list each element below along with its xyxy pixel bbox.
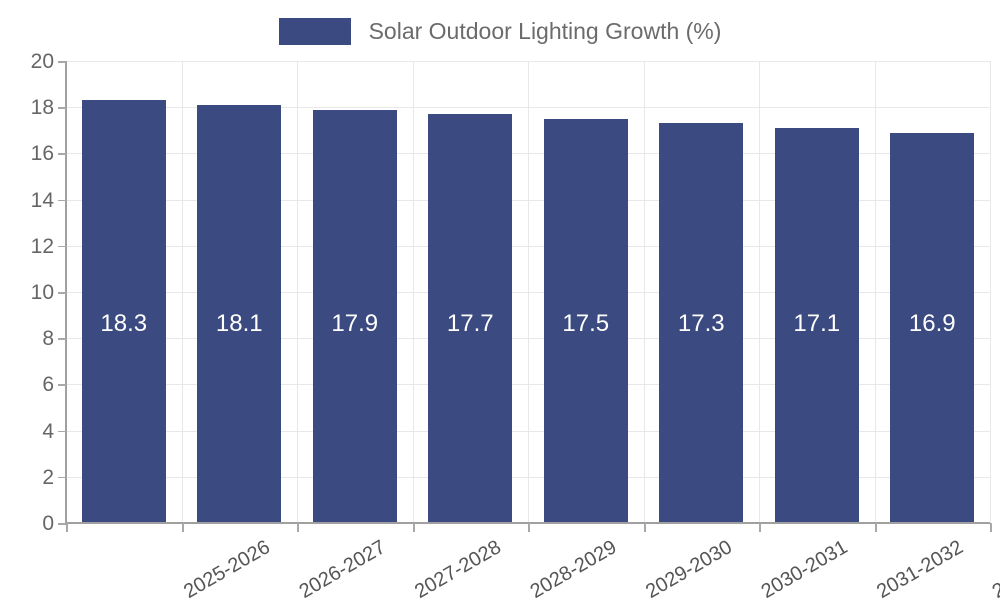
y-axis-tick: [58, 246, 66, 248]
chart-legend: Solar Outdoor Lighting Growth (%): [0, 10, 1000, 52]
y-axis-tick: [58, 107, 66, 109]
plot-area: 18.318.117.917.717.517.317.116.9: [66, 61, 990, 523]
y-axis-tick: [58, 153, 66, 155]
y-axis-tick-label: 6: [42, 374, 54, 395]
x-axis-tick-label: 2025-2026: [181, 537, 274, 602]
y-axis-tick-label: 0: [42, 513, 54, 534]
x-axis-tick-label: 2027-2028: [412, 537, 505, 602]
gridline-vertical: [297, 61, 298, 523]
x-axis-tick-label: 2032-2033: [989, 537, 1000, 602]
y-axis-tick-label: 14: [31, 190, 54, 211]
x-axis-tick: [182, 523, 184, 532]
bar-value-label: 17.1: [775, 312, 859, 336]
y-axis-tick: [58, 384, 66, 386]
y-axis-tick: [58, 292, 66, 294]
y-axis-tick-label: 18: [31, 97, 54, 118]
bar-value-label: 16.9: [890, 312, 974, 336]
x-axis-tick: [297, 523, 299, 532]
legend-item-solar-outdoor-lighting-growth[interactable]: Solar Outdoor Lighting Growth (%): [279, 18, 722, 45]
x-axis-tick-label: 2031-2032: [874, 537, 967, 602]
gridline-vertical: [182, 61, 183, 523]
gridline-vertical: [875, 61, 876, 523]
gridline-vertical: [644, 61, 645, 523]
y-axis-tick: [58, 477, 66, 479]
gridline-vertical: [528, 61, 529, 523]
x-axis-tick-label: 2028-2029: [527, 537, 620, 602]
bar-chart: Solar Outdoor Lighting Growth (%) 18.318…: [0, 0, 1000, 600]
y-axis-tick: [58, 338, 66, 340]
y-axis-tick: [58, 523, 66, 525]
y-axis-tick: [58, 61, 66, 63]
gridline-vertical: [413, 61, 414, 523]
x-axis-tick: [413, 523, 415, 532]
x-axis-tick-label: 2030-2031: [758, 537, 851, 602]
bar-value-label: 18.3: [82, 312, 166, 336]
gridline-vertical: [990, 61, 991, 523]
x-axis-tick-label: 2026-2027: [296, 537, 389, 602]
gridline-vertical: [759, 61, 760, 523]
y-axis-tick-label: 10: [31, 282, 54, 303]
y-axis-tick-label: 8: [42, 328, 54, 349]
x-axis-tick-label: 2029-2030: [643, 537, 736, 602]
legend-swatch-icon: [279, 18, 351, 45]
x-axis-tick: [66, 523, 68, 532]
bar-value-label: 18.1: [197, 312, 281, 336]
y-axis-tick-label: 16: [31, 143, 54, 164]
y-axis-tick: [58, 200, 66, 202]
x-axis-tick: [528, 523, 530, 532]
y-axis-tick-label: 20: [31, 51, 54, 72]
y-axis-tick-label: 2: [42, 467, 54, 488]
x-axis-tick: [644, 523, 646, 532]
y-axis-tick-label: 4: [42, 421, 54, 442]
x-axis-tick: [875, 523, 877, 532]
x-axis-tick: [990, 523, 992, 532]
y-axis-tick: [58, 431, 66, 433]
legend-label: Solar Outdoor Lighting Growth (%): [369, 20, 722, 43]
bar-value-label: 17.9: [313, 312, 397, 336]
bar-value-label: 17.3: [659, 312, 743, 336]
x-axis-tick: [759, 523, 761, 532]
y-axis-tick-label: 12: [31, 236, 54, 257]
bar-value-label: 17.5: [544, 312, 628, 336]
bar-value-label: 17.7: [428, 312, 512, 336]
